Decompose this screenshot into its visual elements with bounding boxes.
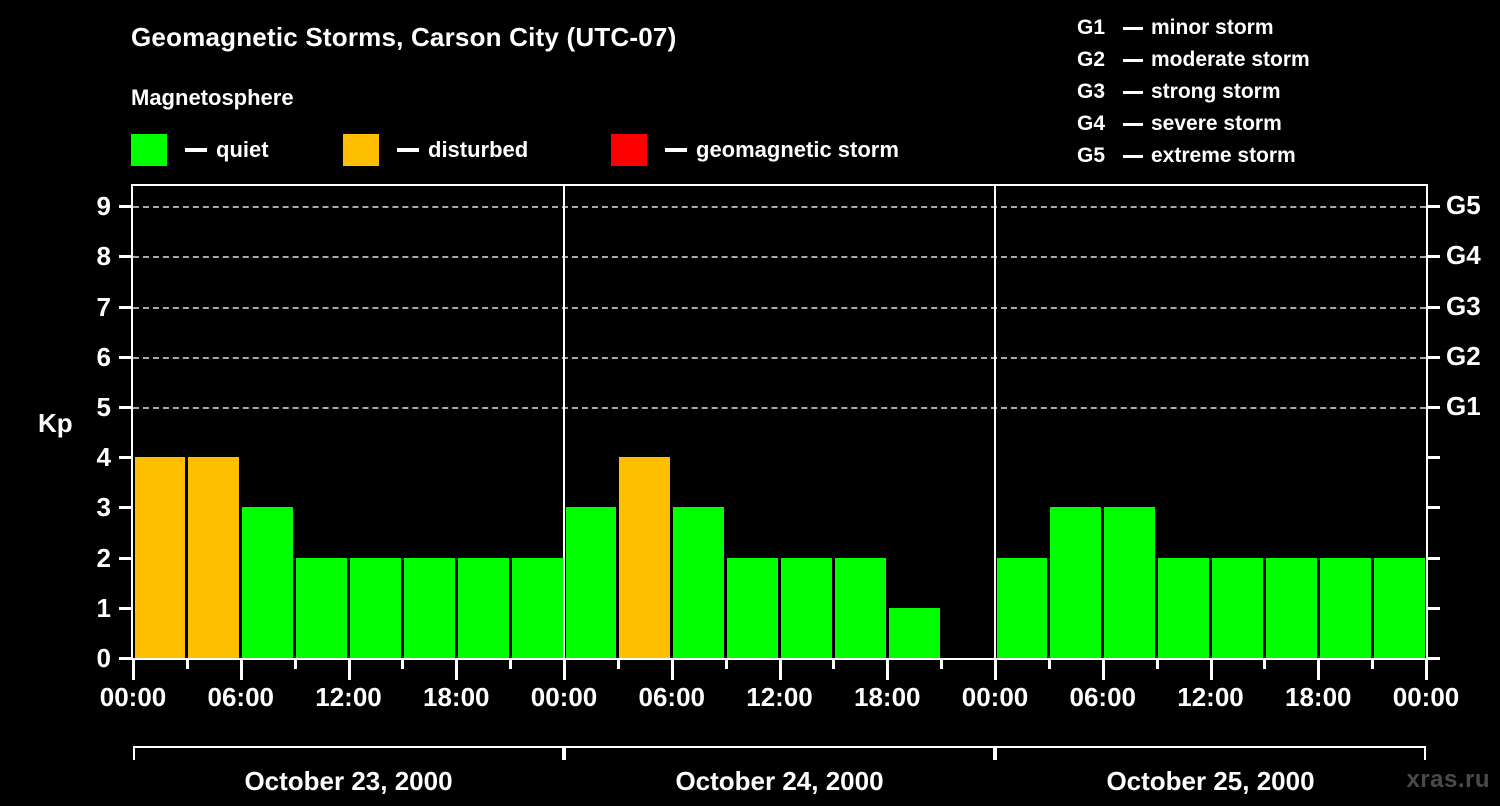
bar-2: [242, 507, 293, 658]
g-axis-tick-mark-1: [1428, 607, 1440, 610]
g-axis-label-g2: G2: [1446, 343, 1481, 369]
date-axis: October 23, 2000October 24, 2000October …: [0, 746, 1500, 806]
x-tick-label-h18: 18:00: [423, 682, 490, 713]
date-label-1: October 24, 2000: [675, 766, 883, 797]
x-tick-mark-h21: [509, 660, 512, 669]
y-tick-label-4: 4: [71, 444, 111, 470]
bar-14: [889, 608, 940, 658]
x-tick-label-h30: 06:00: [639, 682, 706, 713]
date-label-0: October 23, 2000: [244, 766, 452, 797]
g-legend-code-g2: G2: [1077, 48, 1115, 72]
x-tick-mark-h45: [940, 660, 943, 669]
x-tick-mark-h3: [186, 660, 189, 669]
g-legend-dash-icon-g1: [1123, 27, 1143, 30]
g-legend-dash-icon-g3: [1123, 91, 1143, 94]
x-tick-label-h42: 18:00: [854, 682, 921, 713]
g-axis-tick-mark-8: [1428, 255, 1440, 258]
g-legend-dash-icon-g4: [1123, 123, 1143, 126]
g-axis-tick-mark-3: [1428, 506, 1440, 509]
g-axis-tick-mark-5: [1428, 406, 1440, 409]
x-tick-mark-h48: [994, 660, 997, 680]
y-tick-mark-2: [119, 557, 131, 560]
y-tick-label-2: 2: [71, 545, 111, 571]
bar-23: [1374, 558, 1425, 658]
y-tick-mark-1: [119, 607, 131, 610]
y-tick-mark-6: [119, 356, 131, 359]
g-legend-code-g5: G5: [1077, 144, 1115, 168]
date-bracket-0: [133, 746, 564, 760]
y-tick-mark-9: [119, 205, 131, 208]
gridline-kp-8: [133, 256, 1426, 258]
x-tick-mark-h0: [132, 660, 135, 680]
x-tick-label-h12: 12:00: [315, 682, 382, 713]
bar-0: [135, 457, 186, 658]
bar-4: [350, 558, 401, 658]
gridline-kp-9: [133, 206, 1426, 208]
x-tick-label-h60: 12:00: [1177, 682, 1244, 713]
g-scale-legend: G1minor stormG2moderate stormG3strong st…: [1077, 12, 1310, 172]
g-legend-dash-icon-g2: [1123, 59, 1143, 62]
x-tick-mark-h30: [671, 660, 674, 680]
y-tick-label-6: 6: [71, 344, 111, 370]
g-legend-code-g4: G4: [1077, 112, 1115, 136]
series-label: Magnetosphere: [131, 85, 294, 111]
x-tick-label-h48: 00:00: [962, 682, 1029, 713]
x-tick-mark-h18: [455, 660, 458, 680]
y-tick-mark-4: [119, 456, 131, 459]
x-tick-mark-h12: [348, 660, 351, 680]
g-legend-row-g3: G3strong storm: [1077, 76, 1310, 108]
geomagnetic-storm-legend-label: geomagnetic storm: [696, 137, 899, 163]
g-legend-code-g3: G3: [1077, 80, 1115, 104]
x-tick-mark-h36: [779, 660, 782, 680]
bar-13: [835, 558, 886, 658]
y-tick-label-7: 7: [71, 294, 111, 320]
date-label-2: October 25, 2000: [1106, 766, 1314, 797]
x-tick-mark-h54: [1102, 660, 1105, 680]
x-tick-mark-h63: [1263, 660, 1266, 669]
gridline-kp-7: [133, 307, 1426, 309]
date-bracket-2: [995, 746, 1426, 760]
y-tick-mark-5: [119, 406, 131, 409]
bar-21: [1266, 558, 1317, 658]
g-legend-row-g1: G1minor storm: [1077, 12, 1310, 44]
y-tick-mark-7: [119, 306, 131, 309]
y-tick-label-1: 1: [71, 595, 111, 621]
g-axis-label-g1: G1: [1446, 393, 1481, 419]
bar-20: [1212, 558, 1263, 658]
x-tick-mark-h69: [1371, 660, 1374, 669]
g-legend-code-g1: G1: [1077, 16, 1115, 40]
bar-9: [619, 457, 670, 658]
g-axis-label-g4: G4: [1446, 242, 1481, 268]
g-axis-label-g3: G3: [1446, 293, 1481, 319]
disturbed-legend-label: disturbed: [428, 137, 528, 163]
x-tick-mark-h27: [617, 660, 620, 669]
x-tick-mark-h24: [563, 660, 566, 680]
g-legend-desc-g2: moderate storm: [1151, 48, 1310, 72]
x-tick-label-h54: 06:00: [1070, 682, 1137, 713]
watermark: xras.ru: [1406, 766, 1490, 794]
bar-5: [404, 558, 455, 658]
disturbed-legend-swatch-icon: [343, 134, 379, 166]
g-legend-row-g5: G5extreme storm: [1077, 140, 1310, 172]
g-legend-dash-icon-g5: [1123, 155, 1143, 158]
y-tick-label-9: 9: [71, 193, 111, 219]
g-legend-desc-g1: minor storm: [1151, 16, 1274, 40]
plot-frame: [131, 184, 1428, 660]
geomagnetic-storm-legend: geomagnetic storm: [611, 133, 899, 167]
bar-12: [781, 558, 832, 658]
y-tick-mark-8: [119, 255, 131, 258]
g-axis-tick-mark-2: [1428, 557, 1440, 560]
g-axis-tick-mark-6: [1428, 356, 1440, 359]
x-tick-label-h66: 18:00: [1285, 682, 1352, 713]
quiet-legend: quiet: [131, 133, 269, 167]
x-tick-mark-h15: [401, 660, 404, 669]
g-axis-tick-mark-9: [1428, 205, 1440, 208]
gridline-kp-5: [133, 407, 1426, 409]
y-tick-label-3: 3: [71, 494, 111, 520]
bar-8: [566, 507, 617, 658]
bar-1: [188, 457, 239, 658]
right-axis-g-scale: G1G2G3G4G5: [1428, 184, 1500, 660]
g-axis-tick-mark-4: [1428, 456, 1440, 459]
bar-3: [296, 558, 347, 658]
day-divider-2: [994, 186, 996, 658]
g-axis-label-g5: G5: [1446, 192, 1481, 218]
bar-17: [1050, 507, 1101, 658]
plot-area: [133, 186, 1426, 658]
x-tick-mark-h72: [1425, 660, 1428, 680]
x-tick-label-h24: 00:00: [531, 682, 598, 713]
x-tick-mark-h57: [1156, 660, 1159, 669]
x-axis: 00:0006:0012:0018:0000:0006:0012:0018:00…: [0, 660, 1500, 730]
g-legend-desc-g5: extreme storm: [1151, 144, 1296, 168]
g-legend-row-g2: G2moderate storm: [1077, 44, 1310, 76]
x-tick-mark-h6: [240, 660, 243, 680]
x-tick-mark-h9: [294, 660, 297, 669]
bar-19: [1158, 558, 1209, 658]
gridline-kp-6: [133, 357, 1426, 359]
day-divider-1: [563, 186, 565, 658]
quiet-legend-swatch-icon: [131, 134, 167, 166]
bar-18: [1104, 507, 1155, 658]
x-tick-mark-h60: [1210, 660, 1213, 680]
bar-7: [512, 558, 563, 658]
x-tick-mark-h39: [832, 660, 835, 669]
bar-10: [673, 507, 724, 658]
g-legend-desc-g4: severe storm: [1151, 112, 1282, 136]
disturbed-legend-dash-icon: [397, 148, 419, 152]
bar-16: [997, 558, 1048, 658]
y-tick-label-8: 8: [71, 243, 111, 269]
x-tick-mark-h51: [1048, 660, 1051, 669]
y-axis: 0123456789: [61, 184, 131, 660]
x-tick-mark-h42: [886, 660, 889, 680]
page-title: Geomagnetic Storms, Carson City (UTC-07): [131, 22, 676, 53]
y-tick-mark-3: [119, 506, 131, 509]
bar-22: [1320, 558, 1371, 658]
x-tick-mark-h66: [1317, 660, 1320, 680]
g-legend-row-g4: G4severe storm: [1077, 108, 1310, 140]
date-bracket-1: [564, 746, 995, 760]
geomagnetic-storm-legend-swatch-icon: [611, 134, 647, 166]
quiet-legend-dash-icon: [185, 148, 207, 152]
disturbed-legend: disturbed: [343, 133, 528, 167]
y-tick-label-5: 5: [71, 394, 111, 420]
x-tick-mark-h33: [725, 660, 728, 669]
g-legend-desc-g3: strong storm: [1151, 80, 1281, 104]
quiet-legend-label: quiet: [216, 137, 269, 163]
x-tick-label-h72: 00:00: [1393, 682, 1460, 713]
bar-6: [458, 558, 509, 658]
g-axis-tick-mark-7: [1428, 306, 1440, 309]
geomagnetic-storm-legend-dash-icon: [665, 148, 687, 152]
bar-11: [727, 558, 778, 658]
x-tick-label-h36: 12:00: [746, 682, 813, 713]
x-tick-label-h6: 06:00: [208, 682, 275, 713]
x-tick-label-h0: 00:00: [100, 682, 167, 713]
